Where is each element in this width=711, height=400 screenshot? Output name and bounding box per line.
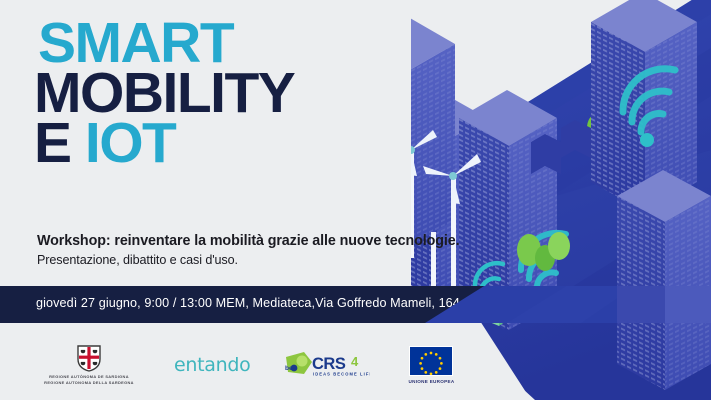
crs4-numeral: 4	[351, 354, 359, 369]
subtitle-block: Workshop: reinventare la mobilità grazie…	[37, 233, 507, 267]
logo-unione-europea: UNIONE EUROPEA	[408, 346, 454, 384]
wifi-signal-top	[623, 69, 675, 132]
poster-canvas: SMART MOBILITY E IOT Workshop: reinventa…	[0, 0, 711, 400]
tower-right-top	[591, 0, 697, 212]
wifi-signal-mid	[521, 233, 566, 288]
logo-unione-europea-caption: UNIONE EUROPEA	[408, 379, 454, 384]
bush-cluster	[517, 232, 570, 271]
event-details-text: giovedì 27 giugno, 9:00 / 13:00 MEM, Med…	[36, 296, 507, 310]
sponsor-logo-row: REGIONE AUTÒNOMA DE SARDIGNA REGIONE AUT…	[30, 340, 500, 390]
tower-right-lower	[617, 170, 711, 390]
logo-regione-sardegna: REGIONE AUTÒNOMA DE SARDIGNA REGIONE AUT…	[30, 344, 148, 386]
subtitle-main: Workshop: reinventare la mobilità grazie…	[37, 233, 507, 249]
headline-line-3: E IOT	[34, 118, 466, 168]
headline-line-3-navy: E	[34, 111, 85, 175]
eu-flag-icon	[409, 346, 453, 376]
page-title: SMART MOBILITY E IOT	[36, 18, 466, 168]
wifi-dot-top	[640, 133, 654, 147]
crs4-wordmark: CRS	[312, 355, 346, 373]
sardinia-emblem-icon	[76, 344, 102, 372]
crs4-logo-icon: be CRS 4 IDEAS BECOME LIFE	[282, 350, 370, 380]
logo-regione-sardegna-line2: REGIONE AUTONOMA DELLA SARDEGNA	[44, 380, 134, 386]
wind-turbine-2	[423, 154, 481, 292]
svg-text:be: be	[285, 365, 293, 372]
tree-cluster	[587, 92, 650, 146]
skyline-silhouette	[531, 120, 591, 174]
logo-entando-wordmark: entando	[174, 354, 250, 376]
subtitle-secondary: Presentazione, dibattito e casi d'uso.	[37, 253, 507, 267]
crs4-tagline: IDEAS BECOME LIFE	[313, 372, 370, 377]
headline-line-3-cyan: IOT	[85, 111, 176, 175]
logo-crs4: be CRS 4 IDEAS BECOME LIFE	[282, 350, 370, 380]
logo-entando: entando	[174, 354, 250, 376]
